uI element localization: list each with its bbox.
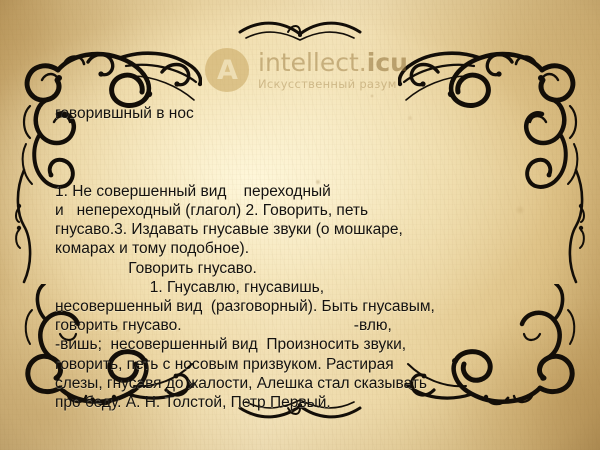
article-line: и непереходный (глагол) 2. Говорить, пет… (55, 201, 560, 220)
article-line: гнусаво.3. Издавать гнусавые звуки (о мо… (55, 220, 560, 239)
article-line: Говорить гнусаво. (55, 259, 560, 278)
article-line: слезы, гнусавя до жалости, Алешка стал с… (55, 374, 560, 393)
article-line: комарах и тому подобное). (55, 239, 560, 258)
dictionary-article: говорившный в нос 1. Не совершенный вид … (55, 66, 560, 450)
article-line: говорить гнусаво. -влю, (55, 316, 560, 335)
article-line: говорить, петь с носовым призвуком. Раст… (55, 355, 560, 374)
dictionary-page: A intellect.icu Искусственный разум гово… (0, 0, 600, 450)
article-body: 1. Не совершенный вид переходныйи непере… (55, 182, 560, 412)
article-line: про беду. А. Н. Толстой, Петр Первый. (55, 393, 560, 412)
article-line: 1. Гнусавлю, гнусавишь, (55, 278, 560, 297)
headword-line: говорившный в нос (55, 104, 560, 123)
article-line: -вишь; несовершенный вид Произносить зву… (55, 335, 560, 354)
article-line: 1. Не совершенный вид переходный (55, 182, 560, 201)
article-line: несовершенный вид (разговорный). Быть гн… (55, 297, 560, 316)
